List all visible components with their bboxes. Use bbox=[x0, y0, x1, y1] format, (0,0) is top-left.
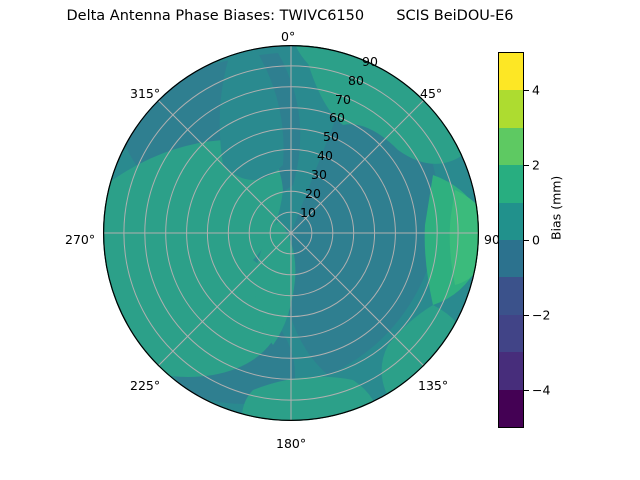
colorbar-ticklabel-neg4: −4 bbox=[532, 383, 550, 398]
angular-tick-0: 0° bbox=[281, 29, 295, 44]
colorbar-tick-mark bbox=[524, 390, 529, 391]
colorbar-tick-mark bbox=[524, 315, 529, 316]
polar-grid-spokes bbox=[103, 45, 479, 421]
angular-tick-135: 135° bbox=[418, 378, 448, 393]
colorbar-segment bbox=[499, 315, 523, 352]
colorbar-segment bbox=[499, 277, 523, 314]
colorbar-tick-mark bbox=[524, 90, 529, 91]
radial-tick-90: 90 bbox=[362, 54, 378, 69]
colorbar: 4 2 0 −2 −4 Bias (mm) bbox=[498, 52, 638, 428]
colorbar-ticklabel-0: 0 bbox=[532, 233, 540, 248]
polar-axes bbox=[103, 45, 479, 421]
page-title: Delta Antenna Phase Biases: TWIVC6150 SC… bbox=[0, 8, 580, 24]
radial-tick-60: 60 bbox=[329, 110, 345, 125]
colorbar-ticklabel-4: 4 bbox=[532, 82, 540, 97]
colorbar-axis-label: Bias (mm) bbox=[549, 176, 564, 240]
radial-tick-70: 70 bbox=[335, 92, 351, 107]
colorbar-segment bbox=[499, 390, 523, 427]
radial-tick-30: 30 bbox=[311, 167, 327, 182]
polar-contour-plot bbox=[103, 45, 479, 421]
colorbar-tick-mark bbox=[524, 165, 529, 166]
angular-tick-180: 180° bbox=[276, 436, 306, 451]
radial-tick-50: 50 bbox=[323, 129, 339, 144]
colorbar-segment bbox=[499, 53, 523, 90]
radial-tick-10: 10 bbox=[300, 205, 316, 220]
colorbar-segment bbox=[499, 352, 523, 389]
colorbar-ticklabel-neg2: −2 bbox=[532, 308, 550, 323]
colorbar-segment bbox=[499, 128, 523, 165]
angular-tick-315: 315° bbox=[130, 86, 160, 101]
radial-tick-40: 40 bbox=[317, 148, 333, 163]
colorbar-tick-mark bbox=[524, 240, 529, 241]
angular-tick-45: 45° bbox=[420, 86, 442, 101]
angular-tick-270: 270° bbox=[65, 232, 95, 247]
angular-tick-225: 225° bbox=[130, 378, 160, 393]
colorbar-ticklabel-2: 2 bbox=[532, 157, 540, 172]
radial-tick-80: 80 bbox=[348, 73, 364, 88]
colorbar-segment bbox=[499, 240, 523, 277]
figure-canvas: Delta Antenna Phase Biases: TWIVC6150 SC… bbox=[0, 0, 640, 480]
colorbar-gradient bbox=[498, 52, 524, 428]
colorbar-segment bbox=[499, 165, 523, 202]
colorbar-segment bbox=[499, 90, 523, 127]
colorbar-segment bbox=[499, 203, 523, 240]
radial-tick-20: 20 bbox=[305, 186, 321, 201]
